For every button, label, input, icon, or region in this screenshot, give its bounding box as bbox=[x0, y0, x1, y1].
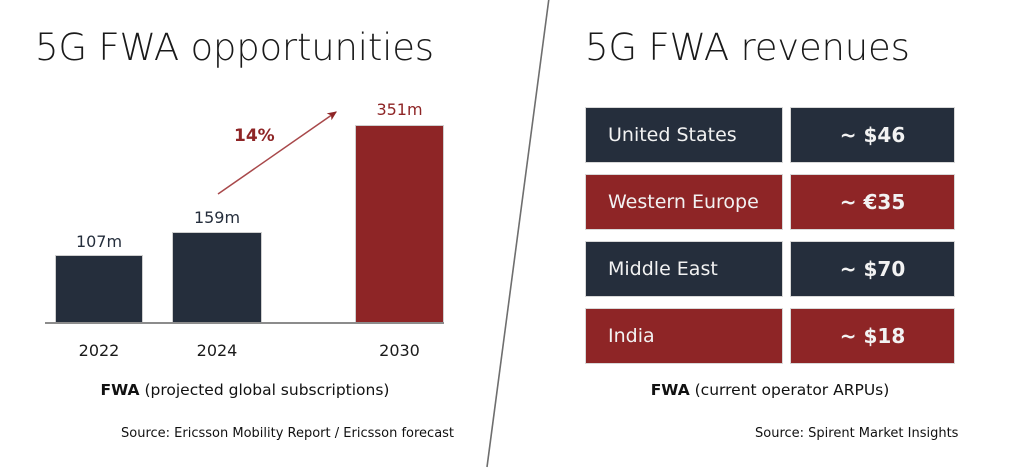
right-caption-rest: (current operator ARPUs) bbox=[690, 381, 890, 399]
table-row-value-united-states: ~ $46 bbox=[790, 107, 955, 163]
fwa-revenues-table: 5G FWA revenues United States ~ $46 West… bbox=[0, 0, 1024, 471]
right-panel-title: 5G FWA revenues bbox=[585, 29, 910, 66]
right-caption-bold: FWA bbox=[651, 381, 690, 399]
table-row-region-india: India bbox=[585, 308, 783, 364]
table-row-value-india: ~ $18 bbox=[790, 308, 955, 364]
table-row-value-western-europe: ~ €35 bbox=[790, 174, 955, 230]
table-row-value-middle-east: ~ $70 bbox=[790, 241, 955, 297]
slide-canvas: 5G FWA opportunities 14% 107m 159m 351m … bbox=[0, 0, 1024, 471]
table-row-region-middle-east: Middle East bbox=[585, 241, 783, 297]
right-table-caption: FWA (current operator ARPUs) bbox=[585, 381, 955, 399]
table-row-region-united-states: United States bbox=[585, 107, 783, 163]
right-source-note: Source: Spirent Market Insights bbox=[755, 426, 958, 441]
table-row-region-western-europe: Western Europe bbox=[585, 174, 783, 230]
